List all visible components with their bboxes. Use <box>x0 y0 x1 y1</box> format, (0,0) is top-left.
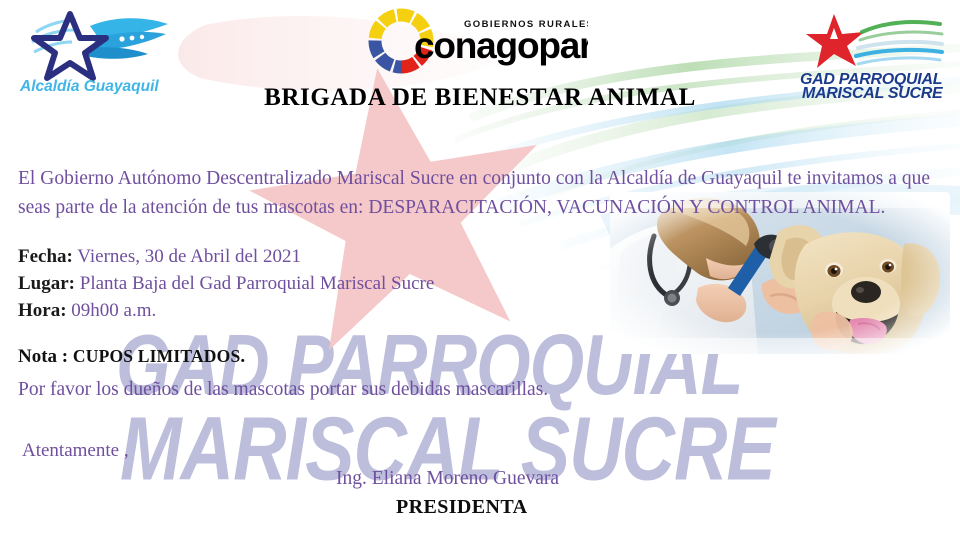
detail-value-hora: 09h00 a.m. <box>71 300 156 321</box>
gad-logo-line-2: MARISCAL SUCRE <box>802 85 944 100</box>
alcaldia-star-icon <box>32 14 168 78</box>
intro-paragraph: El Gobierno Autónomo Descentralizado Mar… <box>18 164 930 222</box>
note-emphasis: CUPOS LIMITADOS <box>73 346 241 366</box>
gad-star-icon <box>806 14 864 68</box>
signer-name: Ing. Eliana Moreno Guevara <box>336 468 559 490</box>
conagopare-wordmark: conagopare <box>414 25 588 66</box>
alcaldia-guayaquil-logo: Alcaldía Guayaquil <box>18 8 178 94</box>
signer-role: PRESIDENTA <box>396 496 527 519</box>
detail-label-fecha: Fecha: <box>18 246 73 267</box>
detail-label-hora: Hora: <box>18 300 67 321</box>
masks-requirement-line: Por favor los dueños de las mascotas por… <box>18 379 548 401</box>
detail-value-lugar: Planta Baja del Gad Parroquial Mariscal … <box>80 273 435 294</box>
conagopare-logo: GOBIERNOS RURALES conagopare <box>368 8 588 74</box>
event-details: Fecha: Viernes, 30 de Abril del 2021 Lug… <box>18 243 434 324</box>
alcaldia-wordmark: Alcaldía Guayaquil <box>19 78 159 94</box>
closing-salutation: Atentamente , <box>22 440 129 462</box>
detail-row-fecha: Fecha: Viernes, 30 de Abril del 2021 <box>18 243 434 270</box>
note-line: Nota : CUPOS LIMITADOS. <box>18 346 245 368</box>
poster-canvas: GAD PARROQUIAL MARISCAL SUCRE <box>0 0 960 540</box>
note-period: . <box>240 346 245 367</box>
gad-parroquial-logo: GAD PARROQUIAL MARISCAL SUCRE <box>800 8 952 100</box>
detail-value-fecha: Viernes, 30 de Abril del 2021 <box>77 246 301 267</box>
detail-label-lugar: Lugar: <box>18 273 75 294</box>
gad-wave-icon <box>856 22 942 64</box>
detail-row-lugar: Lugar: Planta Baja del Gad Parroquial Ma… <box>18 270 434 297</box>
note-label: Nota : <box>18 346 68 367</box>
detail-row-hora: Hora: 09h00 a.m. <box>18 297 434 324</box>
